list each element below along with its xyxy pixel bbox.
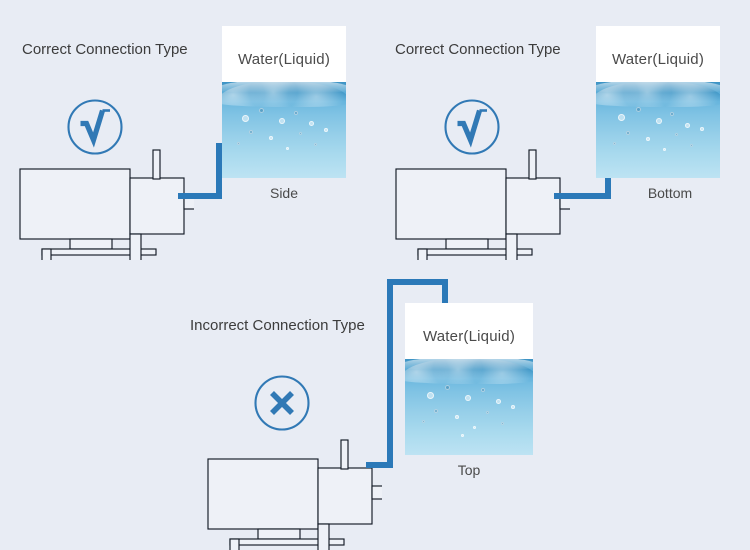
- water-tank-label-side: Water(Liquid): [222, 52, 346, 67]
- water-tank-label-top: Water(Liquid): [405, 329, 533, 344]
- water-body-top: [405, 359, 533, 455]
- cross-circle-icon: [253, 374, 311, 432]
- water-tank-top: Water(Liquid): [405, 303, 533, 455]
- diagram-heading-side: Correct Connection Type: [22, 42, 188, 57]
- pump-unit-side: [14, 138, 194, 260]
- pump-unit-top: [202, 428, 382, 550]
- diagram-heading-top: Incorrect Connection Type: [190, 318, 365, 333]
- water-body-bottom: [596, 82, 720, 178]
- pump-unit-bottom: [390, 138, 570, 260]
- water-tank-bottom: Water(Liquid): [596, 26, 720, 178]
- water-crest-icon: [405, 359, 533, 370]
- diagram-canvas: Correct Connection Type: [0, 0, 750, 550]
- water-tank-label-bottom: Water(Liquid): [596, 52, 720, 67]
- water-tank-side: Water(Liquid): [222, 26, 346, 178]
- caption-top: Top: [405, 463, 533, 477]
- water-body-side: [222, 82, 346, 178]
- diagram-heading-bottom: Correct Connection Type: [395, 42, 561, 57]
- caption-bottom: Bottom: [620, 186, 720, 200]
- caption-side: Side: [222, 186, 346, 200]
- water-crest-icon: [596, 82, 720, 93]
- water-crest-icon: [222, 82, 346, 93]
